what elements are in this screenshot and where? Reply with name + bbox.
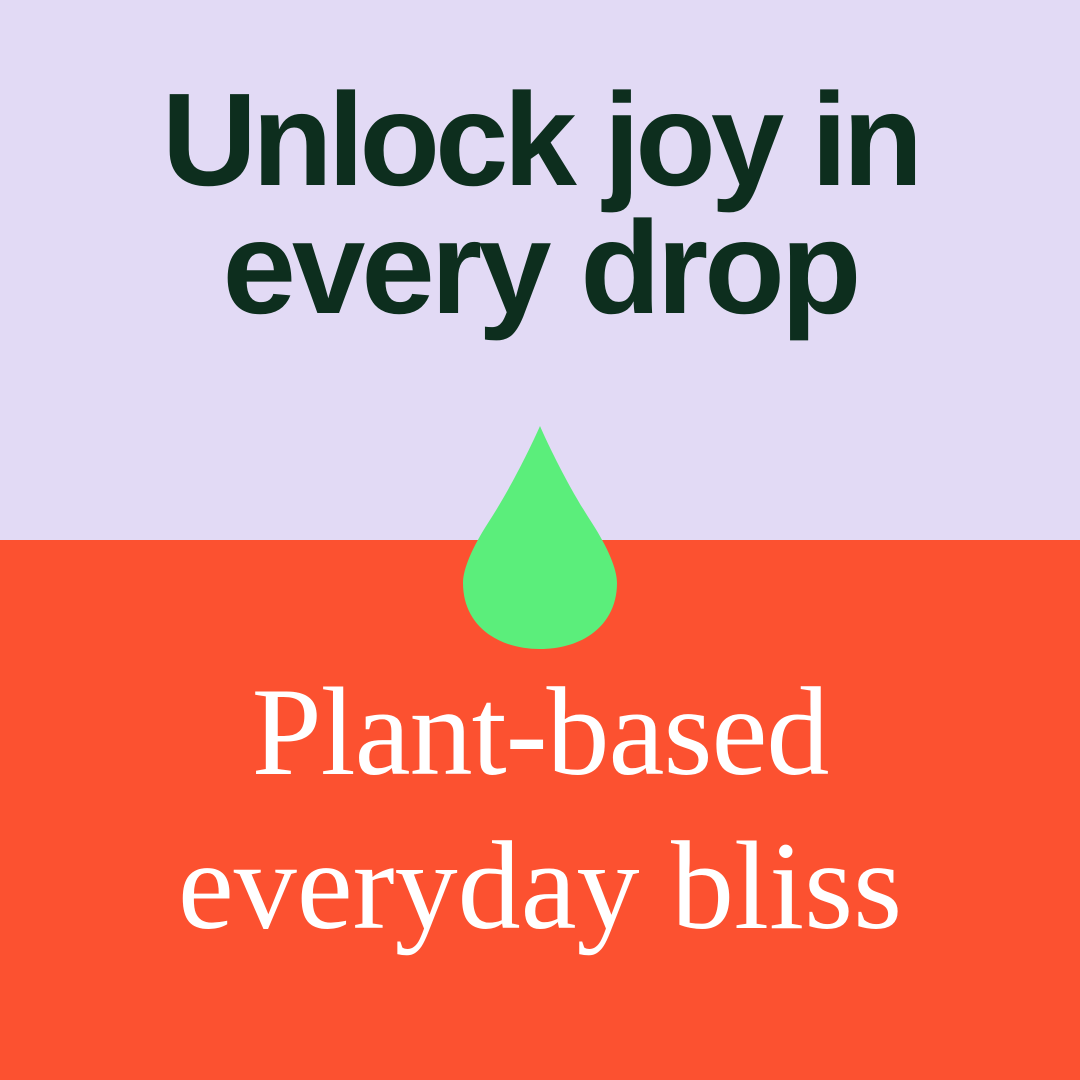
subheadline-line-2: everyday bliss [0, 810, 1080, 964]
poster-canvas: Unlock joy in every drop Plant-based eve… [0, 0, 1080, 1080]
headline-line-1: Unlock joy in [0, 76, 1080, 204]
subheadline-line-1: Plant-based [0, 656, 1080, 810]
subheadline: Plant-based everyday bliss [0, 656, 1080, 963]
headline: Unlock joy in every drop [0, 0, 1080, 332]
headline-line-2: every drop [0, 204, 1080, 332]
